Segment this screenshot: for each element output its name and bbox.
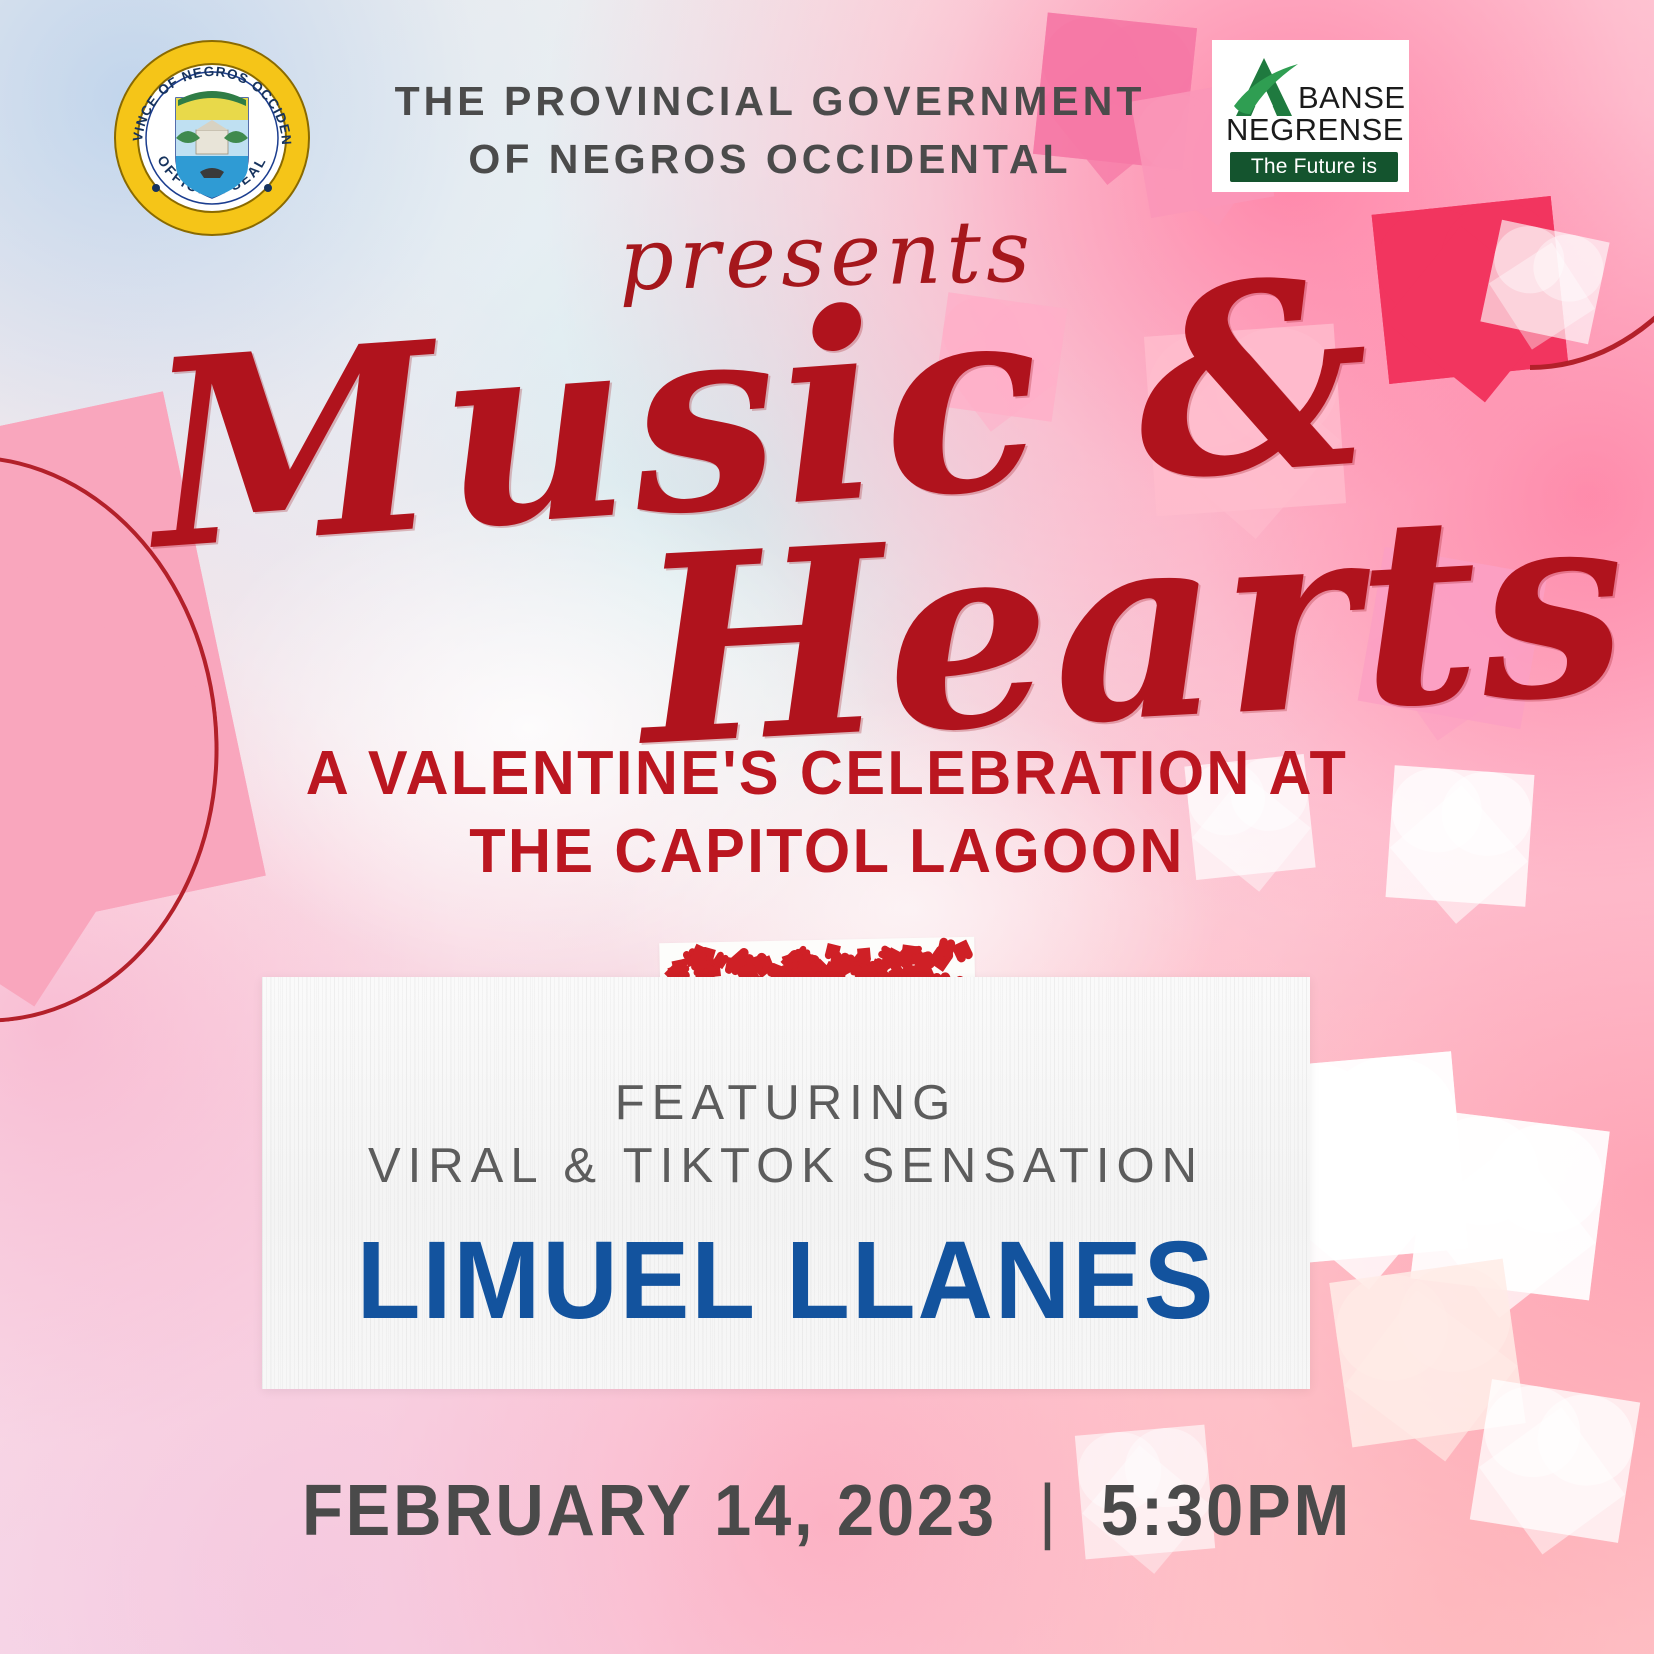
event-time: 5:30PM bbox=[1101, 1471, 1352, 1551]
abanse-word1: BANSE bbox=[1298, 80, 1406, 116]
main-title: Music & Hearts bbox=[0, 250, 1654, 710]
government-title: THE PROVINCIAL GOVERNMENT OF NEGROS OCCI… bbox=[330, 72, 1210, 188]
featuring-text: FEATURING VIRAL & TIKTOK SENSATION bbox=[262, 1072, 1310, 1197]
abanse-word2: NEGRENSE bbox=[1226, 112, 1404, 148]
government-title-line1: THE PROVINCIAL GOVERNMENT bbox=[330, 72, 1210, 130]
artist-name: LIMUEL LLANES bbox=[288, 1217, 1284, 1344]
abanse-tagline: The Future is NOW! bbox=[1230, 152, 1398, 192]
tape-heart-icon bbox=[829, 954, 851, 974]
event-date: FEBRUARY 14, 2023 bbox=[302, 1471, 997, 1551]
event-subtitle: A VALENTINE'S CELEBRATION AT THE CAPITOL… bbox=[33, 735, 1621, 890]
tape-heart-icon bbox=[912, 951, 932, 972]
abanse-negrense-logo: BANSE NEGRENSE The Future is NOW! bbox=[1212, 40, 1409, 192]
event-datetime: FEBRUARY 14, 2023 | 5:30PM bbox=[58, 1470, 1596, 1552]
featured-artist-card: FEATURING VIRAL & TIKTOK SENSATION LIMUE… bbox=[262, 977, 1310, 1389]
provincial-seal-icon: PROVINCE OF NEGROS OCCIDENTAL OFFICIAL S… bbox=[112, 38, 312, 238]
featuring-line1: FEATURING bbox=[262, 1072, 1310, 1135]
abanse-tagline-strip: The Future is NOW! bbox=[1230, 152, 1398, 182]
subtitle-line2: THE CAPITOL LAGOON bbox=[33, 813, 1621, 891]
government-title-line2: OF NEGROS OCCIDENTAL bbox=[330, 130, 1210, 188]
featuring-line2: VIRAL & TIKTOK SENSATION bbox=[262, 1135, 1310, 1198]
datetime-separator: | bbox=[1018, 1470, 1079, 1552]
subtitle-line1: A VALENTINE'S CELEBRATION AT bbox=[33, 735, 1621, 813]
tape-heart-icon bbox=[857, 948, 871, 961]
poster-canvas: PROVINCE OF NEGROS OCCIDENTAL OFFICIAL S… bbox=[0, 0, 1654, 1654]
